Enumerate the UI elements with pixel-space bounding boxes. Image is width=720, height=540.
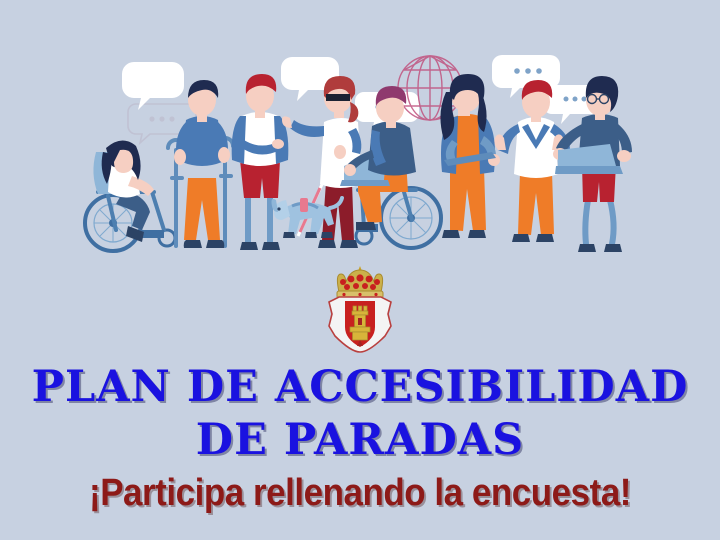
call-to-action-subtitle: ¡Participa rellenando la encuesta! <box>29 474 691 512</box>
page-title-line-2: DE PARADAS <box>0 419 720 462</box>
tower-door <box>358 318 362 325</box>
coat-of-arms <box>0 258 720 358</box>
paradas-crest-icon <box>317 260 403 356</box>
headline-block: PLAN DE ACCESIBILIDAD DE PARADAS ¡Partic… <box>0 366 720 512</box>
accessibility-illustration <box>0 0 720 270</box>
poster-canvas: PLAN DE ACCESIBILIDAD DE PARADAS ¡Partic… <box>0 0 720 540</box>
page-title-line-1: PLAN DE ACCESIBILIDAD <box>0 366 720 409</box>
crown-icon <box>337 266 383 298</box>
